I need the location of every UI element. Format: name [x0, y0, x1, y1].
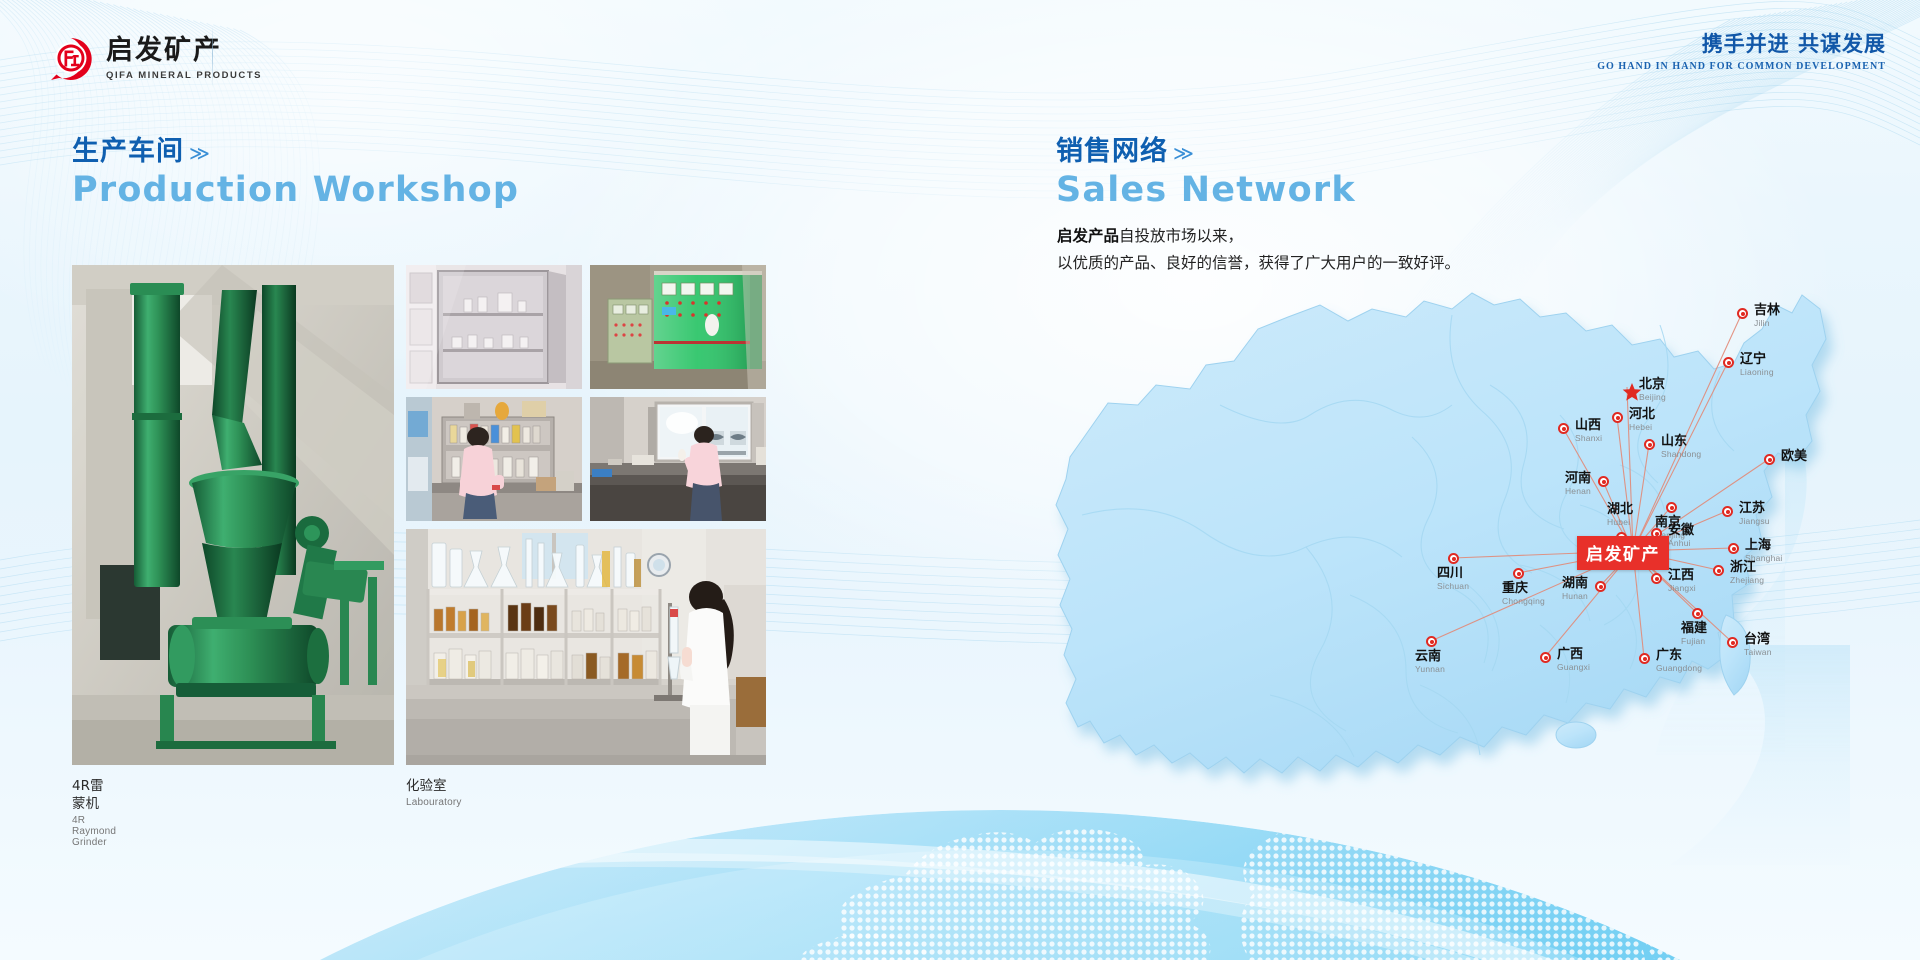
header-slogan: 携手并进 共谋发展 GO HAND IN HAND FOR COMMON DEV…	[1597, 32, 1886, 72]
caption-en: 4R Raymond Grinder	[72, 815, 116, 848]
map-point-label-en: Hunan	[1562, 592, 1588, 601]
map-marker-dot-icon	[1728, 543, 1739, 554]
map-marker-dot-icon	[1540, 652, 1551, 663]
map-point-label-cn: 河北	[1629, 408, 1655, 422]
map-marker-dot-icon	[1612, 412, 1623, 423]
map-point-label: 江西Jiangxi	[1668, 569, 1696, 594]
map-point-label: 云南Yunnan	[1415, 650, 1445, 675]
map-point-label: 广东Guangdong	[1656, 649, 1702, 674]
qifa-circle-logo-icon	[48, 36, 94, 82]
caption-raymond-grinder: 4R雷蒙机 4R Raymond Grinder	[72, 777, 116, 848]
map-point-label: 河北Hebei	[1629, 408, 1655, 433]
map-marker-dot-icon	[1513, 568, 1524, 579]
map-point-label: 江苏Jiangsu	[1739, 502, 1770, 527]
map-point-label-en: Hubei	[1607, 518, 1633, 527]
map-marker-dot-icon	[1595, 581, 1606, 592]
map-point-label: 重庆Chongqing	[1502, 582, 1545, 607]
map-point-label-cn: 吉林	[1754, 304, 1780, 318]
qifa-hub-badge[interactable]: 启发矿产	[1577, 536, 1669, 570]
chevron-double-right-icon: ≫	[1173, 142, 1192, 165]
sales-title-en: Sales Network	[1056, 170, 1356, 210]
slogan-en: GO HAND IN HAND FOR COMMON DEVELOPMENT	[1597, 61, 1886, 72]
map-point-label: 福建Fujian	[1681, 622, 1707, 647]
map-marker-dot-icon	[1598, 476, 1609, 487]
map-point-label-cn: 广东	[1656, 649, 1702, 663]
section-heading-sales: 销售网络 ≫ Sales Network	[1056, 136, 1356, 210]
section-heading-production: 生产车间 ≫ Production Workshop	[72, 136, 519, 210]
sales-title-cn: 销售网络	[1056, 136, 1168, 167]
map-point-label-cn: 浙江	[1730, 561, 1764, 575]
map-point-label-cn: 辽宁	[1740, 353, 1774, 367]
map-marker-dot-icon	[1692, 608, 1703, 619]
map-point-label: 浙江Zhejiang	[1730, 561, 1764, 586]
lab-cabinet-photo[interactable]	[406, 265, 582, 389]
map-point-label-cn: 广西	[1557, 648, 1590, 662]
production-title-cn-row: 生产车间 ≫	[72, 136, 519, 167]
page-header: 启发矿产 QIFA MINERAL PRODUCTS 携手并进 共谋发展 GO …	[0, 0, 1920, 110]
map-point-label-cn: 安徽	[1668, 524, 1694, 538]
chevron-double-right-icon: ≫	[189, 142, 208, 165]
map-marker-dot-icon	[1713, 565, 1724, 576]
map-point-label-cn: 江西	[1668, 569, 1696, 583]
map-point-label-en: Taiwan	[1744, 648, 1772, 657]
map-point-label-en: Anhui	[1668, 539, 1694, 548]
map-marker-dot-icon	[1639, 653, 1650, 664]
map-point-label-cn: 台湾	[1744, 633, 1772, 647]
raymond-grinder-photo[interactable]	[72, 265, 394, 765]
map-point-label: 北京Beijing	[1639, 378, 1666, 403]
map-point-label-cn: 欧美	[1781, 450, 1807, 464]
map-point-label: 吉林Jilin	[1754, 304, 1780, 329]
lab-worker-window-photo[interactable]	[590, 397, 766, 521]
map-point-label-en: Guangdong	[1656, 664, 1702, 673]
map-point-label-en: Jiangsu	[1739, 517, 1770, 526]
map-marker-dot-icon	[1448, 553, 1459, 564]
map-point-label-en: Jiangxi	[1668, 584, 1696, 593]
caption-cn: 4R雷蒙机	[72, 777, 116, 813]
map-point-label-en: Fujian	[1681, 637, 1707, 646]
map-point-label-cn: 江苏	[1739, 502, 1770, 516]
logo-text-en: QIFA MINERAL PRODUCTS	[106, 70, 262, 81]
map-point-label-cn: 湖北	[1607, 503, 1633, 517]
map-point-label-cn: 北京	[1639, 378, 1666, 392]
map-point-label-cn: 上海	[1745, 539, 1783, 553]
map-marker-dot-icon	[1644, 439, 1655, 450]
map-marker-dot-icon	[1666, 502, 1677, 513]
map-marker-dot-icon	[1727, 637, 1738, 648]
production-title-en: Production Workshop	[72, 170, 519, 210]
sales-intro-line-1: 启发产品自投放市场以来，	[1057, 223, 1697, 250]
map-point-label-cn: 四川	[1437, 567, 1469, 581]
map-point-label: 河南Henan	[1565, 472, 1591, 497]
map-point-label: 山东Shandong	[1661, 435, 1701, 460]
map-point-label-en: Guangxi	[1557, 663, 1590, 672]
map-point-label-en: Jilin	[1754, 319, 1780, 328]
map-point-label: 辽宁Liaoning	[1740, 353, 1774, 378]
company-logo[interactable]: 启发矿产 QIFA MINERAL PRODUCTS	[48, 36, 262, 82]
map-point-label-cn: 福建	[1681, 622, 1707, 636]
map-point-label-en: Henan	[1565, 487, 1591, 496]
map-point-label: 广西Guangxi	[1557, 648, 1590, 673]
map-point-label-en: Sichuan	[1437, 582, 1469, 591]
map-point-label: 四川Sichuan	[1437, 567, 1469, 592]
logo-text-cn: 启发矿产	[106, 37, 262, 65]
map-point-label-en: Zhejiang	[1730, 576, 1764, 585]
map-point-label: 湖南Hunan	[1562, 577, 1588, 602]
map-point-label-en: Hebei	[1629, 423, 1655, 432]
map-marker-dot-icon	[1723, 357, 1734, 368]
map-point-label: 湖北Hubei	[1607, 503, 1633, 528]
china-sales-map: 吉林Jilin辽宁Liaoning河北Hebei山西Shanxi山东Shando…	[1020, 265, 1900, 905]
logo-divider	[212, 26, 213, 88]
control-panel-photo[interactable]	[590, 265, 766, 389]
sales-intro-brand: 启发产品	[1057, 227, 1119, 245]
sales-intro-line-1-rest: 自投放市场以来，	[1119, 227, 1243, 245]
map-marker-dot-icon	[1737, 308, 1748, 319]
map-point-label: 欧美	[1781, 450, 1807, 464]
map-point-label-en: Chongqing	[1502, 597, 1545, 606]
map-point-label-cn: 山东	[1661, 435, 1701, 449]
lab-worker-shelf-photo[interactable]	[406, 397, 582, 521]
map-marker-dot-icon	[1558, 423, 1569, 434]
map-point-label-cn: 河南	[1565, 472, 1591, 486]
laboratory-wide-photo[interactable]	[406, 529, 766, 765]
map-point-label-en: Beijing	[1639, 393, 1666, 402]
map-marker-dot-icon	[1722, 506, 1733, 517]
map-marker-dot-icon	[1764, 454, 1775, 465]
map-point-label: 山西Shanxi	[1575, 419, 1602, 444]
map-point-label: 台湾Taiwan	[1744, 633, 1772, 658]
caption-en: Labouratory	[406, 797, 462, 808]
map-point-label-cn: 湖南	[1562, 577, 1588, 591]
production-title-cn: 生产车间	[72, 136, 184, 167]
slogan-cn: 携手并进 共谋发展	[1597, 32, 1886, 57]
map-point-label-en: Liaoning	[1740, 368, 1774, 377]
sales-title-cn-row: 销售网络 ≫	[1056, 136, 1356, 167]
hainan-island	[1556, 722, 1596, 748]
map-point-label-en: Shanxi	[1575, 434, 1602, 443]
caption-cn: 化验室	[406, 777, 462, 795]
map-point-label-en: Shandong	[1661, 450, 1701, 459]
map-point-label-cn: 山西	[1575, 419, 1602, 433]
map-point-label: 安徽Anhui	[1668, 524, 1694, 549]
caption-laboratory: 化验室 Labouratory	[406, 777, 462, 808]
map-marker-dot-icon	[1651, 573, 1662, 584]
map-point-label-cn: 重庆	[1502, 582, 1545, 596]
map-marker-dot-icon	[1426, 636, 1437, 647]
map-point-label-en: Yunnan	[1415, 665, 1445, 674]
brochure-page: 启发矿产 QIFA MINERAL PRODUCTS 携手并进 共谋发展 GO …	[0, 0, 1920, 960]
map-point-label-cn: 云南	[1415, 650, 1445, 664]
